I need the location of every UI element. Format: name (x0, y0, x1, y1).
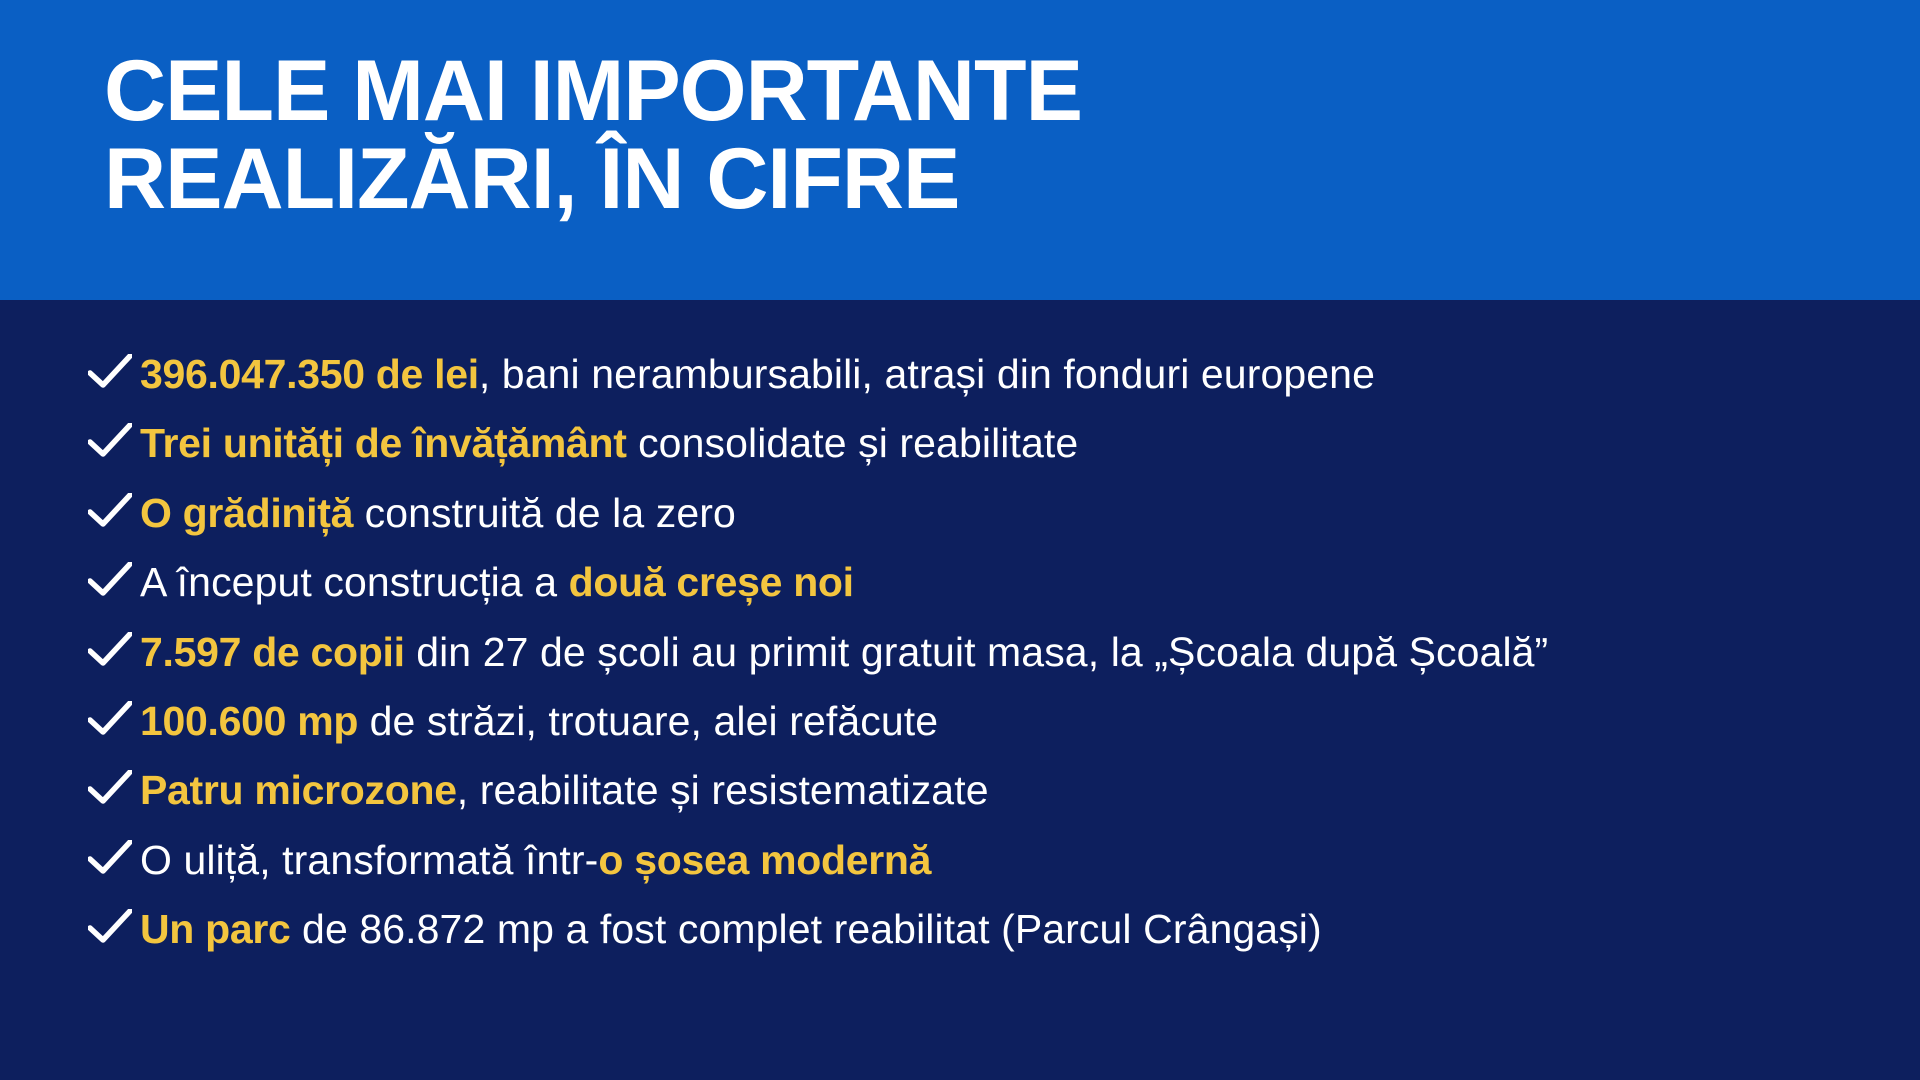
list-item: Un parc de 86.872 mp a fost complet reab… (88, 905, 1920, 953)
list-item: 7.597 de copii din 27 de școli au primit… (88, 628, 1920, 676)
description-text: A început construcția a (140, 559, 569, 605)
description-text: construită de la zero (353, 490, 736, 536)
highlighted-figure: 100.600 mp (140, 698, 358, 744)
highlighted-figure: două creșe noi (569, 559, 854, 605)
list-item: Patru microzone, reabilitate și resistem… (88, 766, 1920, 814)
list-item: 100.600 mp de străzi, trotuare, alei ref… (88, 697, 1920, 745)
description-text: , reabilitate și resistematizate (457, 767, 989, 813)
list-item-text: A început construcția a două creșe noi (140, 558, 854, 606)
highlighted-figure: Patru microzone (140, 767, 457, 813)
check-icon (88, 770, 140, 806)
description-text: , bani nerambursabili, atrași din fondur… (479, 351, 1375, 397)
highlighted-figure: 7.597 de copii (140, 629, 405, 675)
highlighted-figure: o șosea modernă (598, 837, 931, 883)
list-item: O grădiniță construită de la zero (88, 489, 1920, 537)
check-icon (88, 909, 140, 945)
list-item-text: Un parc de 86.872 mp a fost complet reab… (140, 905, 1322, 953)
highlighted-figure: Trei unități de învățământ (140, 420, 627, 466)
check-icon (88, 632, 140, 668)
list-item-text: Trei unități de învățământ consolidate ș… (140, 419, 1078, 467)
check-icon (88, 423, 140, 459)
list-item: 396.047.350 de lei, bani nerambursabili,… (88, 350, 1920, 398)
description-text: de 86.872 mp a fost complet reabilitat (… (291, 906, 1322, 952)
header-band: CELE MAI IMPORTANTE REALIZĂRI, ÎN CIFRE (0, 0, 1920, 300)
list-item: A început construcția a două creșe noi (88, 558, 1920, 606)
list-item-text: O grădiniță construită de la zero (140, 489, 736, 537)
highlighted-figure: 396.047.350 de lei (140, 351, 479, 397)
list-item-text: Patru microzone, reabilitate și resistem… (140, 766, 989, 814)
slide: CELE MAI IMPORTANTE REALIZĂRI, ÎN CIFRE … (0, 0, 1920, 1080)
check-icon (88, 701, 140, 737)
check-icon (88, 354, 140, 390)
check-icon (88, 493, 140, 529)
highlighted-figure: O grădiniță (140, 490, 353, 536)
description-text: O uliță, transformată într- (140, 837, 598, 883)
list-item: O uliță, transformată într-o șosea moder… (88, 836, 1920, 884)
list-item: Trei unități de învățământ consolidate ș… (88, 419, 1920, 467)
achievements-list: 396.047.350 de lei, bani nerambursabili,… (88, 350, 1920, 953)
page-title: CELE MAI IMPORTANTE REALIZĂRI, ÎN CIFRE (104, 48, 1920, 223)
check-icon (88, 562, 140, 598)
description-text: din 27 de școli au primit gratuit masa, … (405, 629, 1549, 675)
achievements-section: 396.047.350 de lei, bani nerambursabili,… (0, 300, 1920, 1046)
list-item-text: 396.047.350 de lei, bani nerambursabili,… (140, 350, 1375, 398)
description-text: de străzi, trotuare, alei refăcute (358, 698, 938, 744)
highlighted-figure: Un parc (140, 906, 291, 952)
list-item-text: O uliță, transformată într-o șosea moder… (140, 836, 931, 884)
bottom-strip (0, 1046, 1920, 1080)
check-icon (88, 840, 140, 876)
list-item-text: 100.600 mp de străzi, trotuare, alei ref… (140, 697, 938, 745)
list-item-text: 7.597 de copii din 27 de școli au primit… (140, 628, 1548, 676)
description-text: consolidate și reabilitate (627, 420, 1079, 466)
